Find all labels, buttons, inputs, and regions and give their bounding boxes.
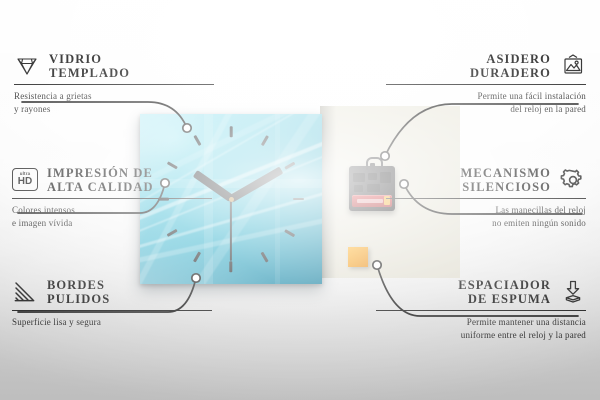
feature-impresion-alta-calidad: ultra HD IMPRESIÓN DE ALTA CALIDAD Color… (12, 166, 212, 229)
picture-hanger-icon (560, 54, 586, 78)
feature-title-line2: TEMPLADO (49, 66, 130, 80)
feature-description: Superficie lisa y segura (12, 316, 212, 328)
feature-description: Resistencia a grietas y rayones (14, 90, 214, 114)
feature-title-line2: PULIDOS (47, 292, 110, 306)
feature-title-line1: ASIDERO (470, 52, 551, 66)
diamond-icon (14, 54, 40, 78)
divider (12, 310, 212, 311)
feature-description: Permite mantener una distancia uniforme … (376, 316, 586, 340)
feature-mecanismo-silencioso: MECANISMO SILENCIOSO Las manecillas del … (386, 166, 586, 229)
feature-title-line1: IMPRESIÓN DE (47, 166, 154, 180)
ultra-hd-icon-big-label: HD (18, 177, 32, 187)
feature-title-line2: DURADERO (470, 66, 551, 80)
foam-spacer-icon (560, 280, 586, 304)
feature-bordes-pulidos: BORDES PULIDOS Superficie lisa y segura (12, 278, 212, 329)
feature-asidero-duradero: ASIDERO DURADERO Permite una fácil insta… (386, 52, 586, 115)
divider (376, 310, 586, 311)
feature-title-line2: SILENCIOSO (461, 180, 551, 194)
divider (14, 84, 214, 85)
feature-description: Permite una fácil instalación del reloj … (386, 90, 586, 114)
connector-node (183, 124, 191, 132)
feature-description: Las manecillas del reloj no emiten ningú… (386, 204, 586, 228)
feature-description: Colores intensos e imagen vívida (12, 204, 212, 228)
feature-title-line1: BORDES (47, 278, 110, 292)
gear-icon (560, 168, 586, 192)
ultra-hd-icon: ultra HD (12, 168, 38, 192)
feature-title-line1: ESPACIADOR (458, 278, 551, 292)
divider (12, 198, 212, 199)
infographic-canvas: VIDRIO TEMPLADO Resistencia a grietas y … (0, 0, 600, 400)
divider (386, 198, 586, 199)
feature-espaciador-de-espuma: ESPACIADOR DE ESPUMA Permite mantener un… (376, 278, 586, 341)
feature-vidrio-templado: VIDRIO TEMPLADO Resistencia a grietas y … (14, 52, 214, 115)
feature-title-line2: DE ESPUMA (458, 292, 551, 306)
feature-title-line1: VIDRIO (49, 52, 130, 66)
feature-title-line2: ALTA CALIDAD (47, 180, 154, 194)
connector-node (381, 152, 389, 160)
connector-node (373, 261, 381, 269)
polished-edges-icon (12, 280, 38, 304)
feature-title-line1: MECANISMO (461, 166, 551, 180)
divider (386, 84, 586, 85)
